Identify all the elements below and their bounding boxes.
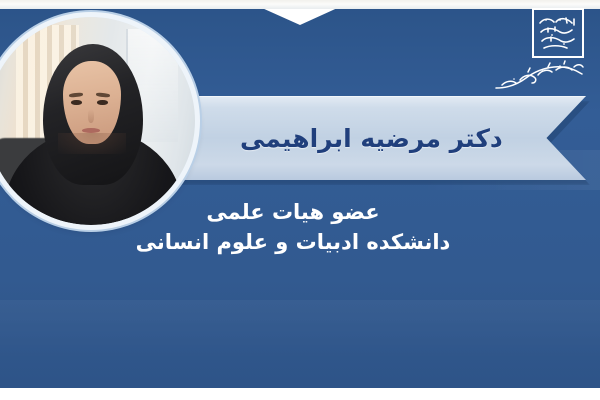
logo-calligraphy-icon [534,10,582,56]
profile-banner: دکتر مرضیه ابراهیمی عضو هیات علمی دانشکد… [0,0,600,400]
academic-role: عضو هیات علمی [0,198,586,228]
photo-person-eye-right [97,100,107,105]
faculty-name: دانشکده ادبیات و علوم انسانی [0,228,586,258]
avatar [0,17,195,225]
photo-person-chin-shadow [58,133,127,154]
public-relations-script-icon [492,58,588,96]
bottom-white-band [0,388,600,400]
name-ribbon: دکتر مرضیه ابراهیمی [170,96,586,180]
person-name: دکتر مرضیه ابراهیمی [240,96,560,180]
university-logo [492,6,588,98]
logo-frame-icon [532,8,584,58]
portrait-photo [0,17,195,225]
role-text-block: عضو هیات علمی دانشکده ادبیات و علوم انسا… [0,198,586,258]
photo-person-nose [88,109,94,124]
photo-person-eye-left [71,100,81,105]
